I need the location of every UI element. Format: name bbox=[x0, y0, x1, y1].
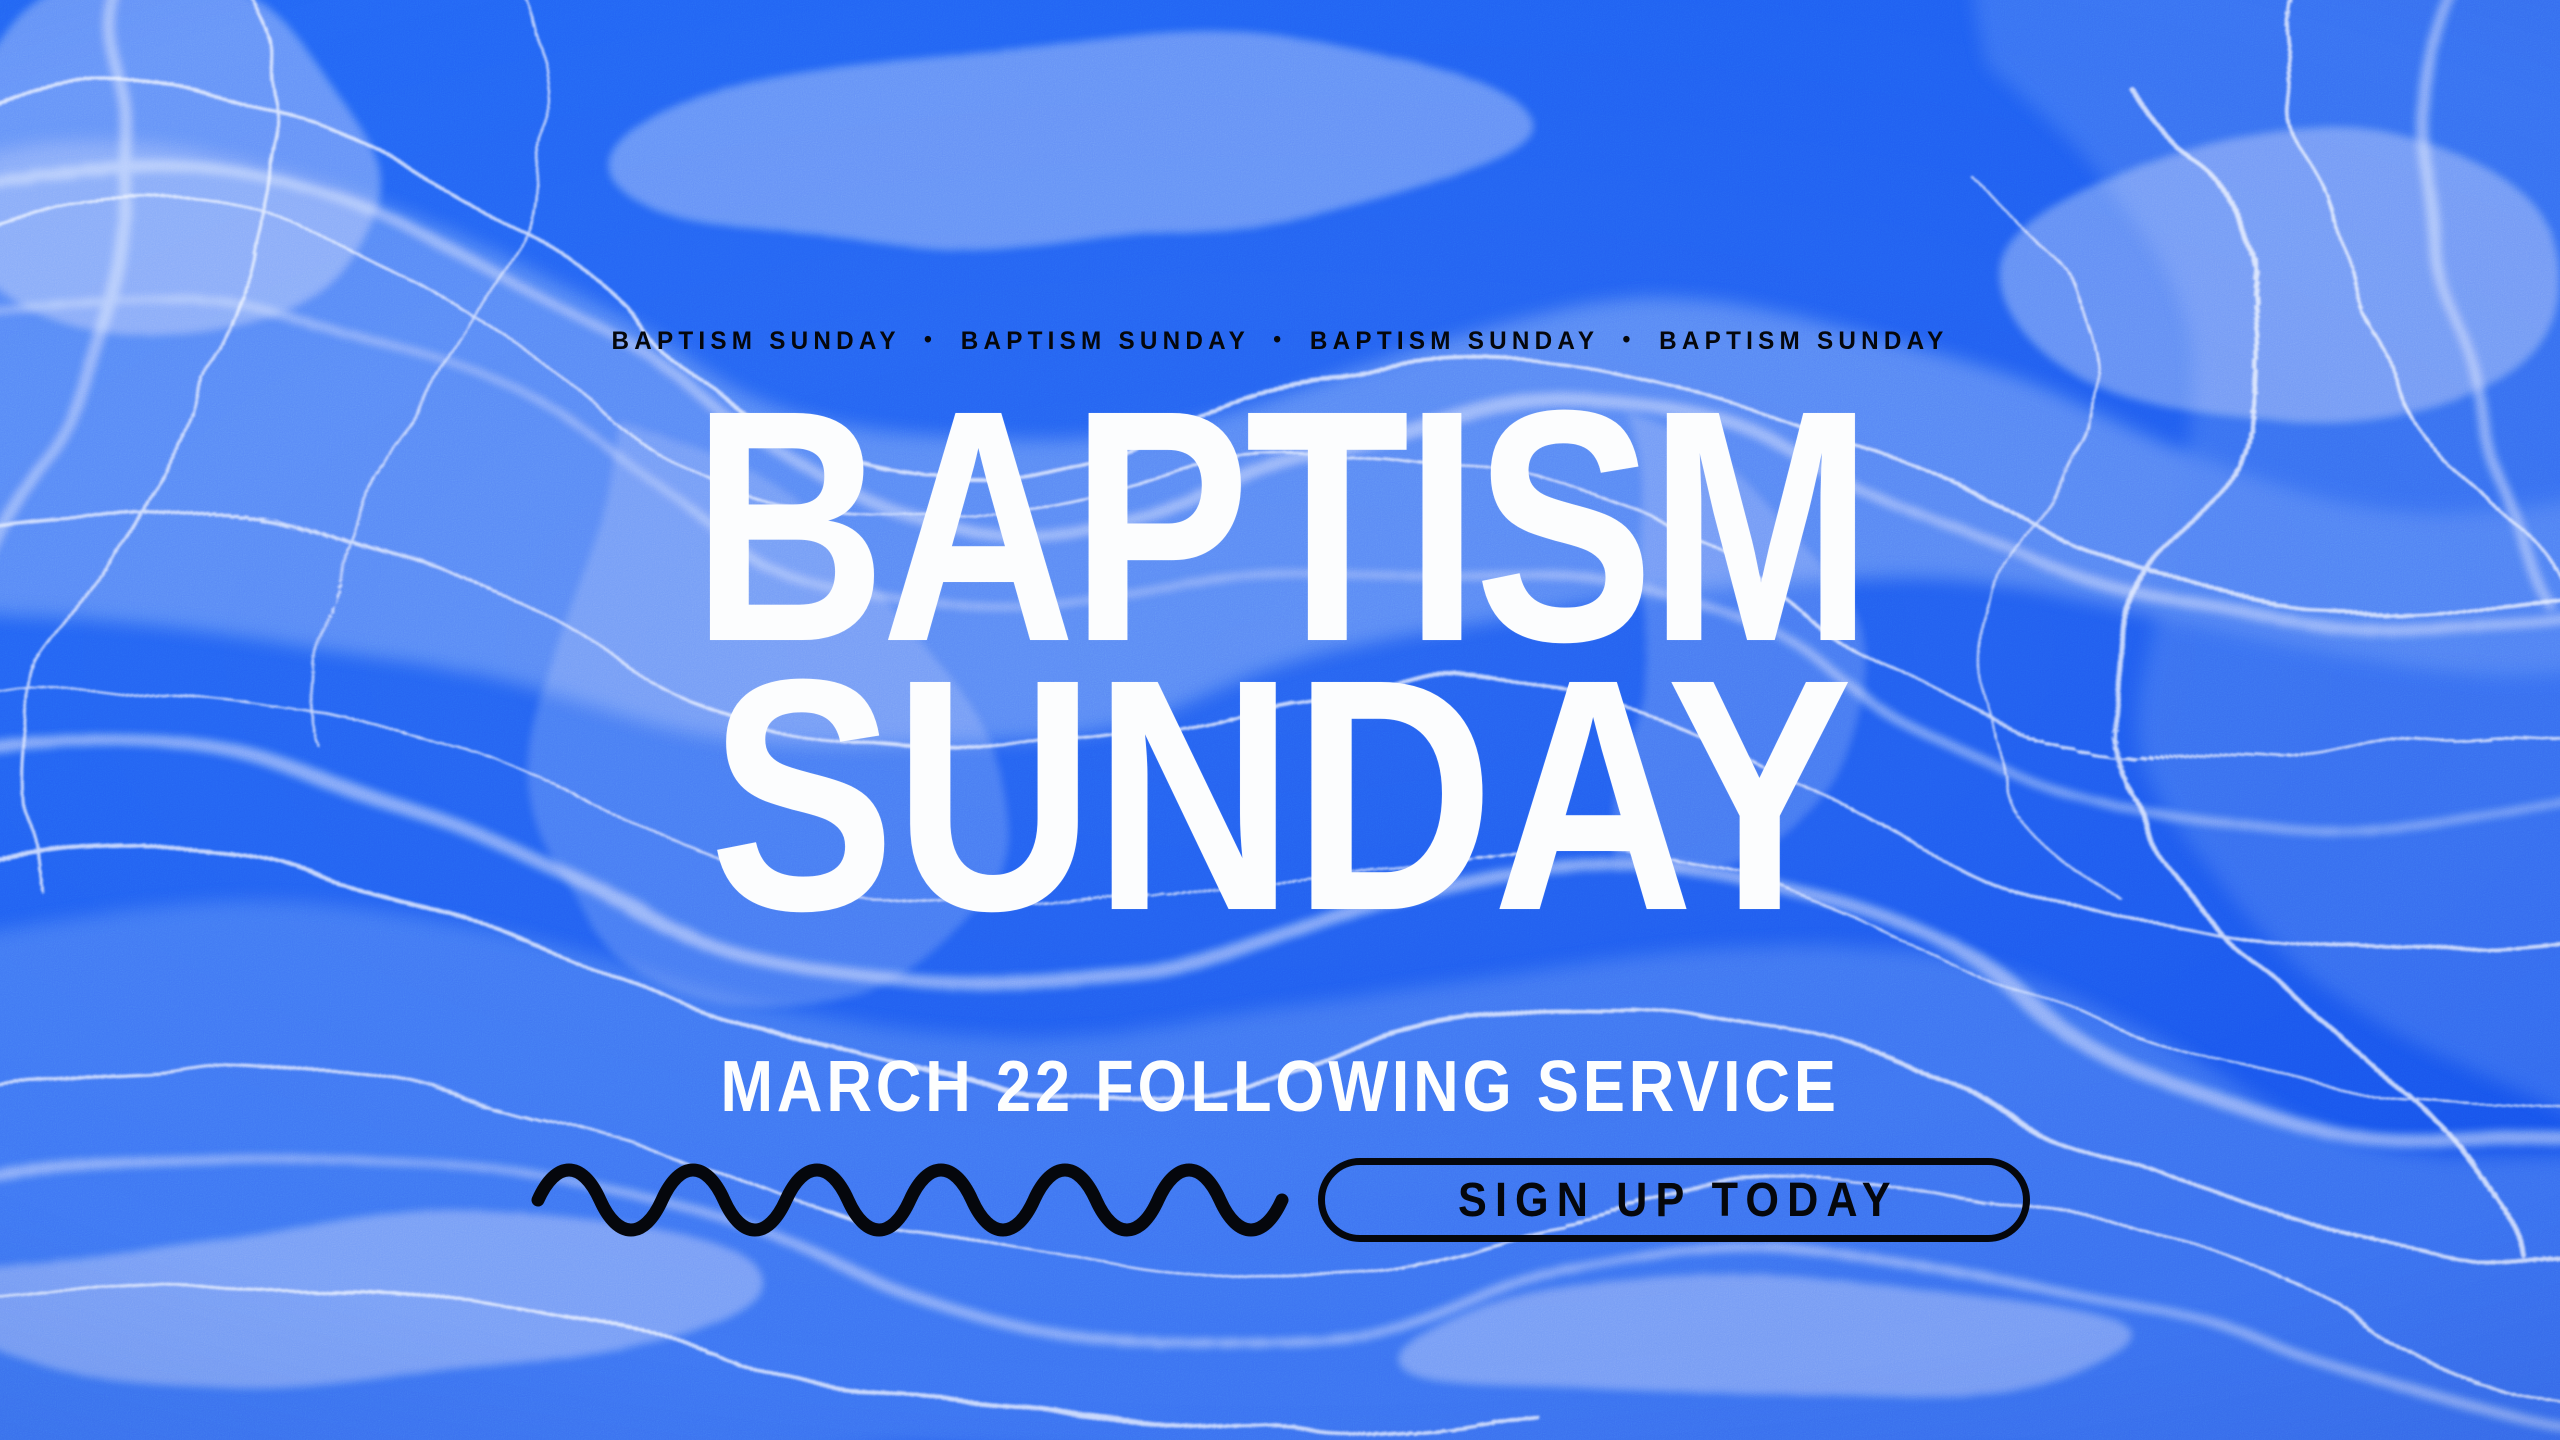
sign-up-button-label: SIGN UP TODAY bbox=[1450, 1173, 1899, 1228]
wavy-line-decoration bbox=[530, 1152, 1290, 1248]
headline-line-2: SUNDAY bbox=[198, 661, 2361, 930]
headline-block: BAPTISM SUNDAY bbox=[0, 392, 2560, 930]
poster-content: BAPTISM SUNDAY • BAPTISM SUNDAY • BAPTIS… bbox=[0, 0, 2560, 1440]
baptism-sunday-poster: BAPTISM SUNDAY • BAPTISM SUNDAY • BAPTIS… bbox=[0, 0, 2560, 1440]
event-subtitle: MARCH 22 FOLLOWING SERVICE bbox=[154, 1046, 2407, 1128]
sign-up-button[interactable]: SIGN UP TODAY bbox=[1318, 1158, 2030, 1242]
cta-row: SIGN UP TODAY bbox=[0, 1150, 2560, 1250]
